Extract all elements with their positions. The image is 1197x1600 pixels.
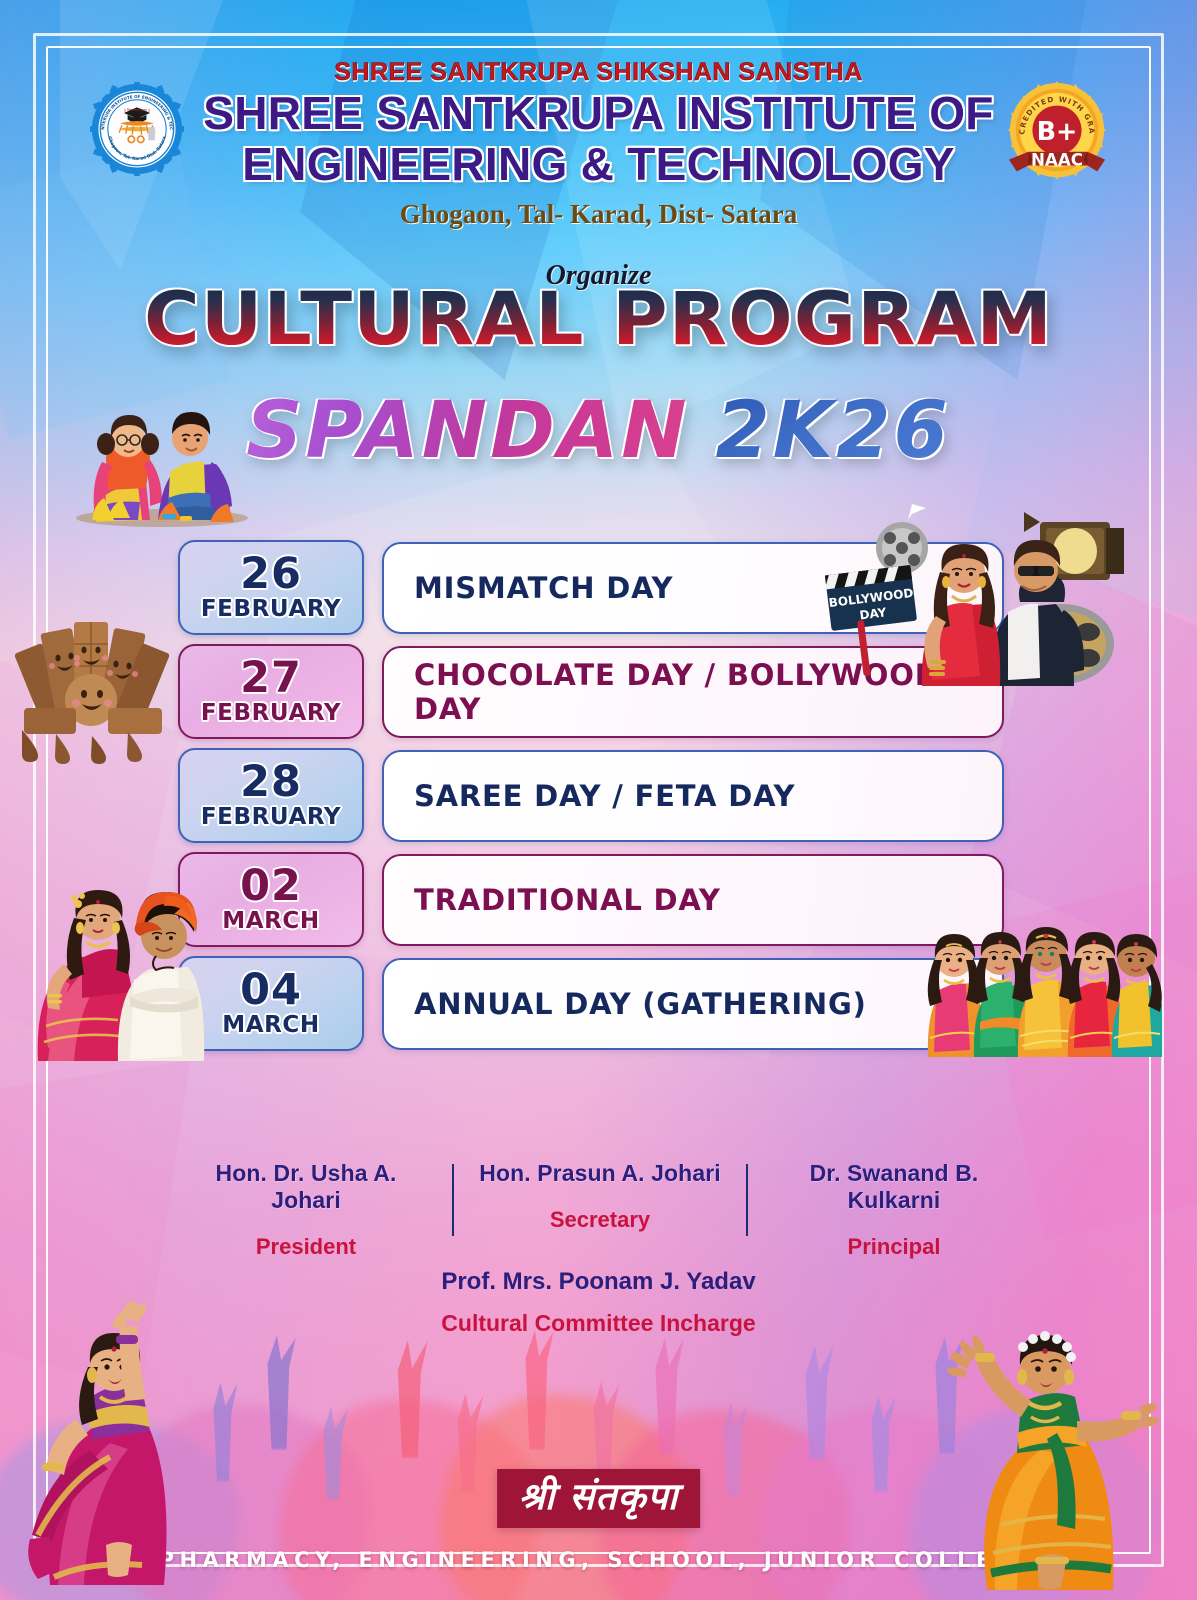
event-year: 2K26 — [715, 386, 950, 476]
date-month: FEBRUARY — [201, 700, 341, 726]
signatory-role: Secretary — [472, 1207, 728, 1233]
mismatch-day-students-illustration — [62, 352, 257, 527]
signatory-divider — [746, 1164, 748, 1236]
date-month: MARCH — [222, 908, 320, 934]
signatories-row: Hon. Dr. Usha A. Johari President Hon. P… — [150, 1160, 1050, 1260]
signatory-divider — [452, 1164, 454, 1236]
date-day: 04 — [240, 969, 302, 1011]
event-label: TRADITIONAL DAY — [414, 883, 721, 917]
date-badge: 26 FEBRUARY — [178, 540, 364, 635]
event-name-bar: ANNUAL DAY (GATHERING) — [382, 958, 1004, 1050]
bollywood-couple-illustration: BOLLYWOOD DAY — [824, 486, 1134, 686]
schedule-row: 04 MARCH ANNUAL DAY (GATHERING) — [178, 956, 1004, 1051]
institute-address: Ghogaon, Tal- Karad, Dist- Satara — [0, 199, 1197, 230]
date-badge: 27 FEBRUARY — [178, 644, 364, 739]
poster-header: SHREE SANTKRUPA SHIKSHAN SANSTHA SHREE S… — [0, 58, 1197, 292]
santkrupa-brand-text: श्री संतकृपा — [519, 1477, 679, 1518]
event-label: ANNUAL DAY (GATHERING) — [414, 987, 867, 1021]
date-month: MARCH — [222, 1012, 320, 1038]
date-day: 02 — [240, 865, 302, 907]
saree-feta-couple-illustration — [12, 846, 227, 1061]
date-day: 27 — [240, 657, 302, 699]
page-title: CULTURAL PROGRAM — [0, 277, 1197, 362]
date-month: FEBRUARY — [201, 596, 341, 622]
event-name-bar: SAREE DAY / FETA DAY — [382, 750, 1004, 842]
event-label: MISMATCH DAY — [414, 571, 673, 605]
event-name: SPANDAN — [246, 386, 689, 476]
bharatanatyam-dancer-illustration — [925, 1205, 1160, 1590]
event-label: SAREE DAY / FETA DAY — [414, 779, 795, 813]
schedule-row: 28 FEBRUARY SAREE DAY / FETA DAY — [178, 748, 1004, 843]
santkrupa-brand-box: श्री संतकृपा — [497, 1469, 701, 1528]
signatory-name: Hon. Prasun A. Johari — [472, 1160, 728, 1187]
date-month: FEBRUARY — [201, 804, 341, 830]
lavani-dancer-illustration — [10, 1205, 240, 1585]
event-name-bar: TRADITIONAL DAY — [382, 854, 1004, 946]
poster-root: SHREE SANTKRUPA INSTITUTE OF ENGINEERING… — [0, 0, 1197, 1600]
institute-name-line2: ENGINEERING & TECHNOLOGY — [0, 141, 1197, 189]
institute-name-line1: SHREE SANTKRUPA INSTITUTE OF — [0, 90, 1197, 138]
date-badge: 28 FEBRUARY — [178, 748, 364, 843]
smiling-chocolate-bars-illustration — [8, 604, 178, 764]
signatory-secretary: Hon. Prasun A. Johari Secretary — [464, 1160, 736, 1260]
society-name: SHREE SANTKRUPA SHIKSHAN SANSTHA — [0, 58, 1197, 87]
date-day: 26 — [240, 553, 302, 595]
date-day: 28 — [240, 761, 302, 803]
schedule-row: 02 MARCH TRADITIONAL DAY — [178, 852, 1004, 947]
traditional-girls-group-illustration — [922, 872, 1162, 1057]
